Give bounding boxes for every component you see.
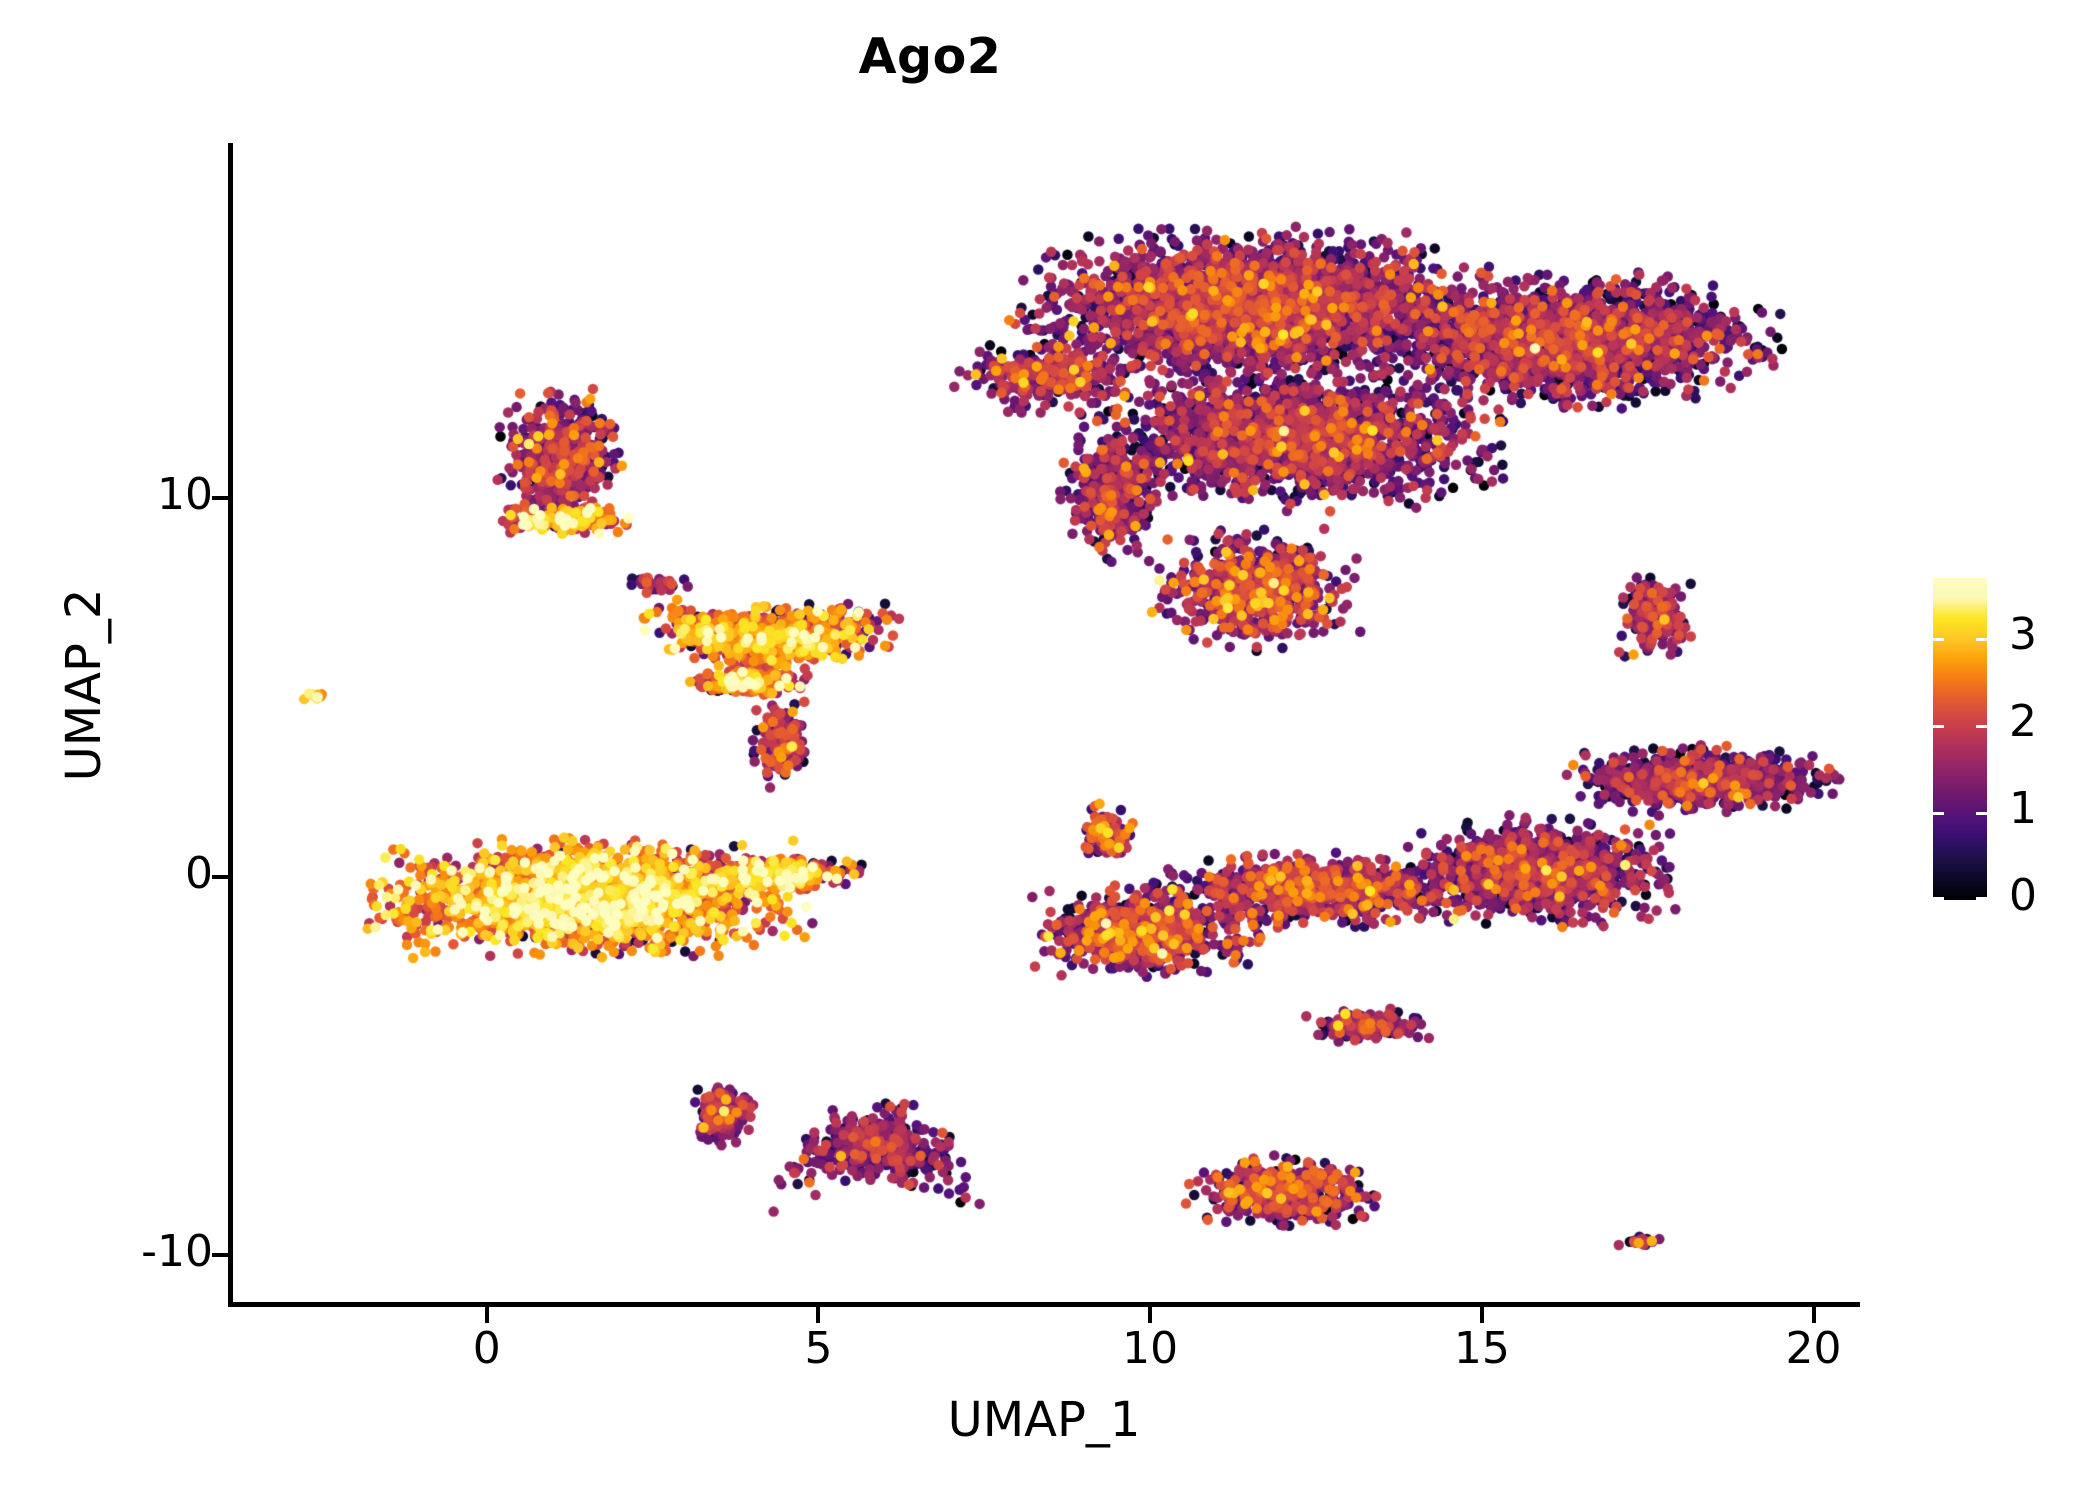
colorbar-tick-mark-2-right <box>1976 812 1987 815</box>
colorbar-tick-label-1: 2 <box>2009 696 2037 747</box>
x-tick-label-0: 0 <box>417 1323 557 1374</box>
colorbar-tick-mark-0-right <box>1976 638 1987 641</box>
y-tick-label-2: -10 <box>0 1226 213 1277</box>
colorbar-tick-label-0: 3 <box>2009 609 2037 660</box>
x-tick-mark-4 <box>1812 1307 1816 1323</box>
x-tick-mark-2 <box>1148 1307 1152 1323</box>
colorbar-gradient <box>1933 578 1987 900</box>
colorbar-tick-label-3: 0 <box>2009 870 2037 921</box>
scatter-points-layer <box>228 143 1860 1304</box>
colorbar-tick-mark-3-right <box>1976 897 1987 900</box>
x-tick-label-4: 20 <box>1744 1323 1884 1374</box>
x-tick-mark-0 <box>485 1307 489 1323</box>
colorbar-tick-label-2: 1 <box>2009 783 2037 834</box>
colorbar-tick-mark-2-left <box>1933 812 1944 815</box>
x-tick-mark-1 <box>816 1307 820 1323</box>
scatter-plot-area <box>228 143 1860 1304</box>
y-tick-mark-1 <box>212 875 229 879</box>
x-tick-label-1: 5 <box>748 1323 888 1374</box>
colorbar <box>1933 578 1987 900</box>
y-axis-label: UMAP_2 <box>56 285 112 1085</box>
x-axis-label: UMAP_1 <box>228 1392 1860 1448</box>
colorbar-tick-mark-0-left <box>1933 638 1944 641</box>
colorbar-tick-mark-1-right <box>1976 725 1987 728</box>
chart-title: Ago2 <box>0 28 1860 85</box>
y-tick-mark-2 <box>212 1253 229 1257</box>
colorbar-tick-mark-1-left <box>1933 725 1944 728</box>
colorbar-tick-mark-3-left <box>1933 897 1944 900</box>
x-tick-label-3: 15 <box>1412 1323 1552 1374</box>
x-axis-spine <box>228 1302 1860 1307</box>
y-axis-spine <box>228 143 233 1307</box>
x-tick-mark-3 <box>1480 1307 1484 1323</box>
y-tick-mark-0 <box>212 496 229 500</box>
figure-canvas: Ago2 05101520 100-10 UMAP_1 UMAP_2 3210 <box>0 0 2100 1500</box>
x-tick-label-2: 10 <box>1080 1323 1220 1374</box>
